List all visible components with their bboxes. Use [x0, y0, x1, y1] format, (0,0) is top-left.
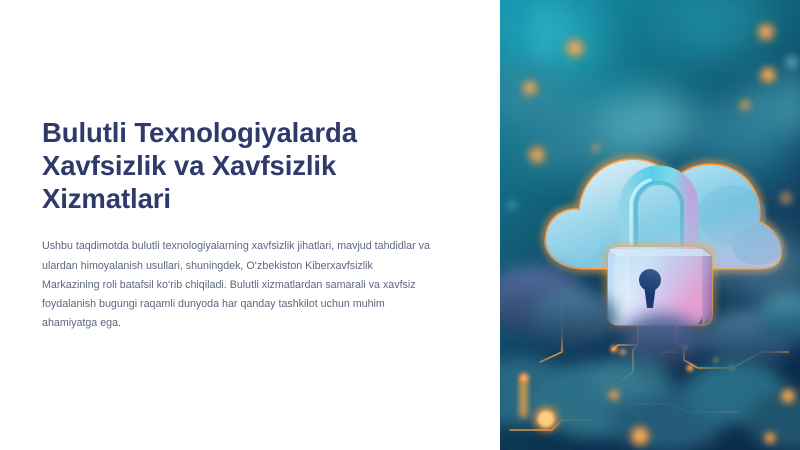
padlock-cloud-artwork [500, 0, 800, 450]
cloud-security-padlock-illustration [500, 0, 800, 450]
text-pane: Bulutli Texnologiyalarda Xavfsizlik va X… [0, 0, 500, 450]
slide-body-text: Ushbu taqdimotda bulutli texnologiyalarn… [42, 237, 432, 333]
slide: Bulutli Texnologiyalarda Xavfsizlik va X… [0, 0, 800, 450]
page-title: Bulutli Texnologiyalarda Xavfsizlik va X… [42, 116, 402, 215]
